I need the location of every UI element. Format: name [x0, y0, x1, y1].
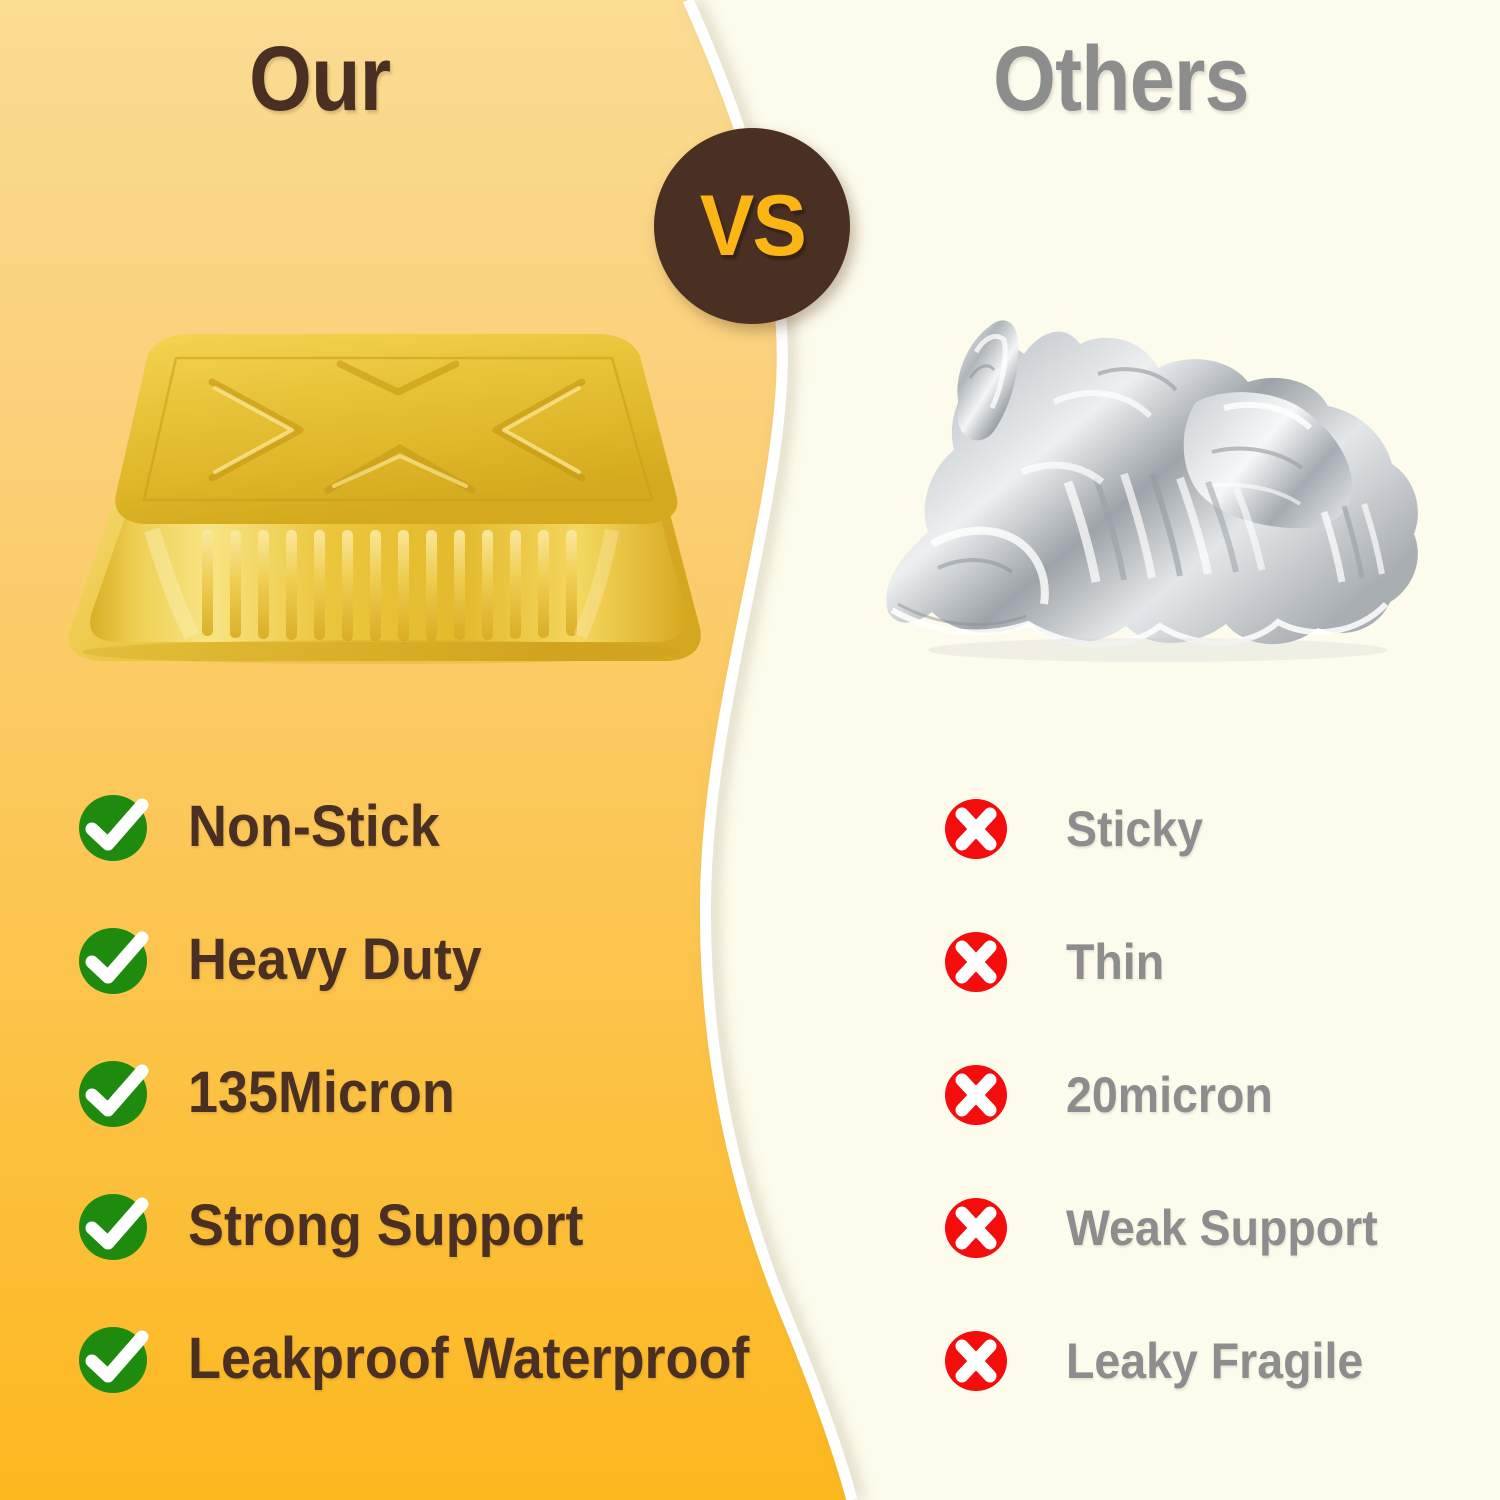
check-icon [78, 1324, 152, 1394]
others-feature-list: Sticky Thin 20micron [944, 762, 1401, 1427]
list-item: Thin [944, 895, 1401, 1028]
check-icon [78, 1191, 152, 1261]
comparison-infographic: Our Others [0, 0, 1500, 1500]
cross-icon [944, 1064, 1008, 1126]
list-item-label: 20micron [1066, 1070, 1273, 1120]
our-feature-list: Non-Stick Heavy Duty 135Micron [78, 760, 792, 1425]
list-item-label: Leaky Fragile [1066, 1336, 1363, 1386]
page-title-our: Our [249, 33, 390, 125]
list-item: Leaky Fragile [944, 1294, 1401, 1427]
list-item-label: Weak Support [1066, 1203, 1378, 1253]
list-item-label: Sticky [1066, 804, 1203, 854]
vs-badge-label: VS [699, 177, 804, 276]
list-item: 135Micron [78, 1026, 792, 1159]
list-item: Heavy Duty [78, 893, 792, 1026]
list-item-label: Heavy Duty [188, 931, 482, 989]
list-item-label: Non-Stick [188, 798, 440, 856]
gold-foil-container-image [52, 330, 712, 695]
cross-icon [944, 931, 1008, 993]
check-icon [78, 925, 152, 995]
list-item: Non-Stick [78, 760, 792, 893]
list-item-label: Strong Support [188, 1197, 583, 1255]
list-item-label: Thin [1066, 937, 1164, 987]
list-item: Sticky [944, 762, 1401, 895]
cross-icon [944, 1197, 1008, 1259]
list-item-label: 135Micron [188, 1064, 455, 1122]
list-item: Strong Support [78, 1159, 792, 1292]
crumpled-silver-foil-tray-image [858, 282, 1448, 682]
list-item-label: Leakproof Waterproof [188, 1330, 749, 1388]
list-item: Leakproof Waterproof [78, 1292, 792, 1425]
check-icon [78, 1058, 152, 1128]
vs-badge: VS [654, 128, 850, 324]
list-item: 20micron [944, 1028, 1401, 1161]
cross-icon [944, 1330, 1008, 1392]
list-item: Weak Support [944, 1161, 1401, 1294]
page-title-others: Others [993, 33, 1249, 125]
check-icon [78, 792, 152, 862]
cross-icon [944, 798, 1008, 860]
